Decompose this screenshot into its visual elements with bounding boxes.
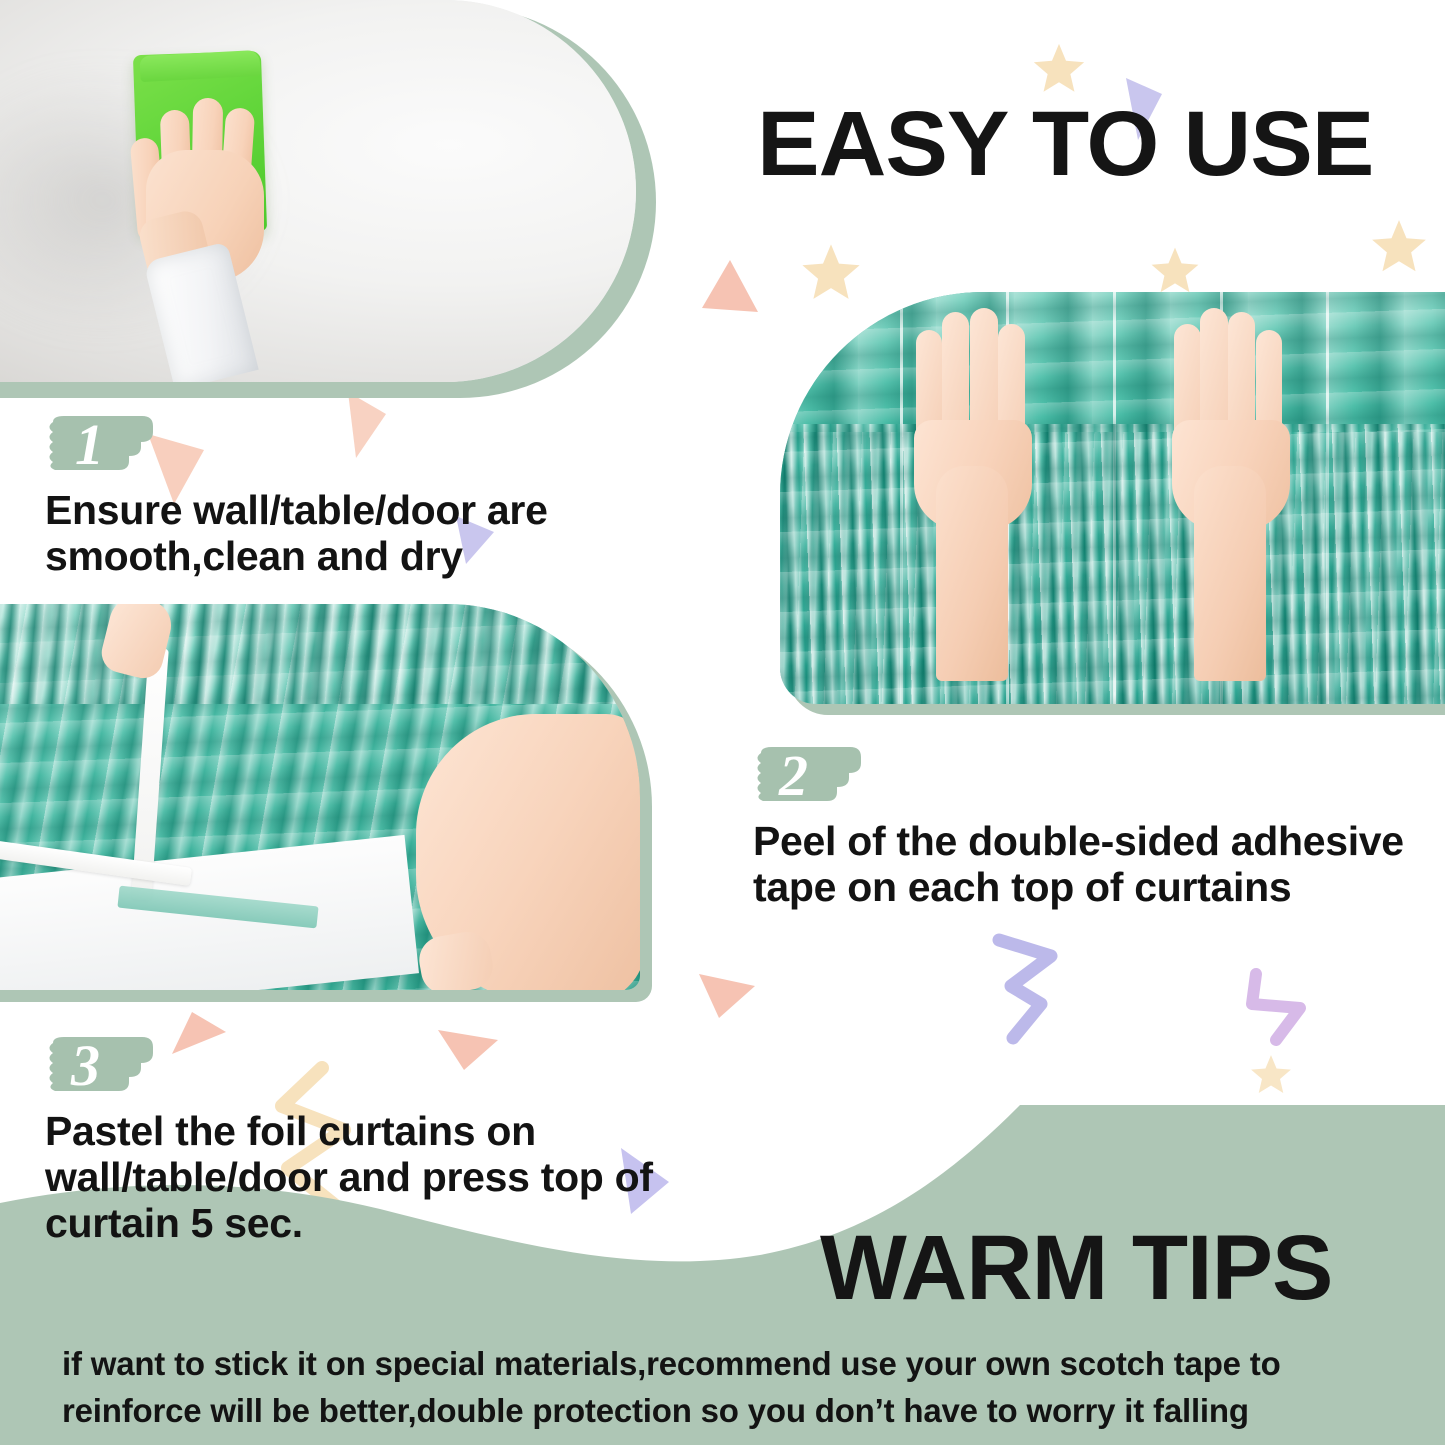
page-title-easy-to-use: EASY TO USE [757, 98, 1445, 190]
photo-wipe-wall [0, 0, 636, 382]
star-cream-icon [1148, 244, 1202, 298]
section-title-warm-tips: WARM TIPS [820, 1222, 1332, 1314]
photo-peel-tape [0, 604, 640, 990]
star-cream-icon [1030, 40, 1088, 98]
photo-press-curtain [780, 292, 1445, 704]
step-number-glyph-3: 3 [70, 1033, 100, 1098]
hand-right-pressing [1172, 308, 1290, 668]
step-3: 3 Pastel the foil curtains on wall/table… [45, 1027, 785, 1247]
step-number-badge-3: 3 [45, 1027, 157, 1103]
step-2-text: Peel of the double-sided adhesive tape o… [753, 819, 1413, 911]
infographic-page: EASY TO USE WARM TIPS 1 Ensure wall/tabl… [0, 0, 1445, 1445]
step-number-glyph-2: 2 [778, 743, 808, 808]
step-1: 1 Ensure wall/table/door are smooth,clea… [45, 406, 685, 580]
step-number-badge-2: 2 [753, 737, 865, 813]
star-cream-icon [1248, 1052, 1294, 1098]
step-3-text: Pastel the foil curtains on wall/table/d… [45, 1109, 785, 1247]
squiggle-lavender-icon [985, 920, 1085, 1050]
squiggle-lavender-icon [1238, 962, 1320, 1058]
warm-tips-body: if want to stick it on special materials… [62, 1341, 1402, 1435]
step-1-text: Ensure wall/table/door are smooth,clean … [45, 488, 685, 580]
step-number-badge-1: 1 [45, 406, 157, 482]
step-number-glyph-1: 1 [75, 412, 104, 477]
star-cream-icon [1368, 216, 1430, 278]
hand-left-pressing [914, 308, 1032, 668]
triangle-pink-icon [695, 966, 757, 1025]
step-2: 2 Peel of the double-sided adhesive tape… [753, 737, 1413, 911]
foil-highlights [780, 292, 1445, 704]
foil-fringe-top [0, 604, 640, 704]
triangle-pink-icon [700, 258, 760, 319]
